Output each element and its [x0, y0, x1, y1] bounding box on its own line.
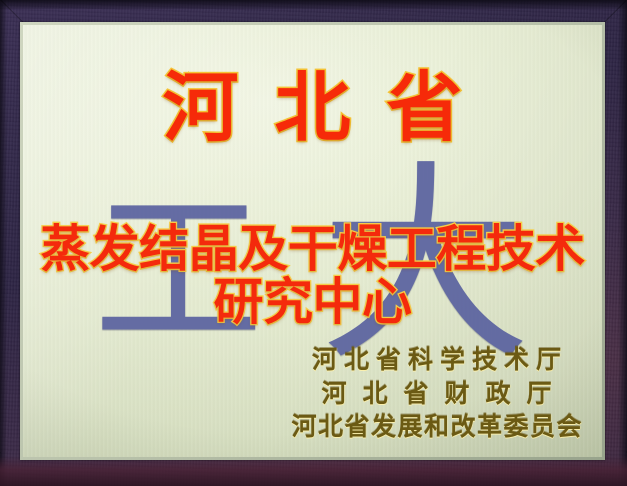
plaque-vignette	[23, 25, 602, 457]
frame-top-shadow	[0, 0, 627, 9]
plaque-headline-text: 河北省	[127, 69, 499, 147]
plaque-surface-sheen	[23, 25, 602, 457]
issuing-authority-line-2: 河北省财政厅	[290, 377, 583, 410]
award-plaque-photo: 工 大 河北省 蒸发结晶及干燥工程技术研究中心 河北省科学技术厅 河北省财政厅 …	[0, 0, 627, 486]
issuing-authority-line-1: 河北省科学技术厅	[290, 343, 583, 376]
issuing-authorities-block: 河北省科学技术厅 河北省财政厅 河北省发展和改革委员会	[290, 343, 583, 443]
plaque-face: 工 大 河北省 蒸发结晶及干燥工程技术研究中心 河北省科学技术厅 河北省财政厅 …	[23, 25, 602, 457]
watermark-char-da: 大	[320, 175, 532, 357]
frame-right-shadow	[618, 0, 627, 486]
frame-bottom-shadow	[0, 456, 627, 486]
plaque-main-title: 蒸发结晶及干燥工程技术研究中心	[23, 223, 602, 328]
watermark-char-gong: 工	[93, 198, 263, 344]
frame-left-shadow	[0, 0, 7, 486]
watermark-gongda: 工 大	[23, 163, 602, 373]
issuing-authority-line-3: 河北省发展和改革委员会	[290, 410, 583, 443]
plaque-main-title-text: 蒸发结晶及干燥工程技术研究中心	[23, 223, 602, 328]
plaque-headline: 河北省	[23, 69, 602, 147]
